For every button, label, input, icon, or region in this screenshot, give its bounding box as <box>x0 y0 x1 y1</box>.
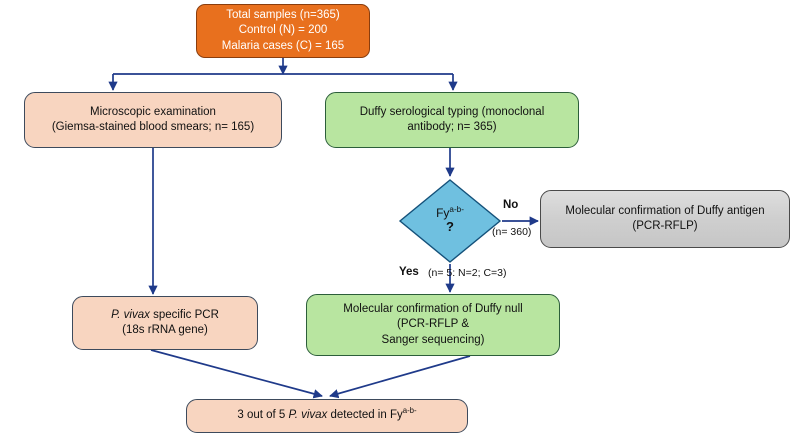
pvivax-line-1: P. vivax specific PCR <box>79 308 251 323</box>
node-duffy-serological-typing: Duffy serological typing (monoclonal ant… <box>325 92 579 148</box>
mol-null-line-3: Sanger sequencing) <box>313 333 553 348</box>
total-samples-line-1: Total samples (n=365) <box>203 8 363 23</box>
mol-antigen-line-1: Molecular confirmation of Duffy antigen <box>547 204 783 219</box>
microscopic-line-1: Microscopic examination <box>31 105 275 120</box>
result-prefix: 3 out of 5 <box>237 409 288 421</box>
edge-molnull-to-result <box>330 356 470 396</box>
mol-null-line-1: Molecular confirmation of Duffy null <box>313 302 553 317</box>
node-final-result: 3 out of 5 P. vivax detected in Fya-b- <box>186 399 468 433</box>
node-microscopic-examination: Microscopic examination (Giemsa-stained … <box>24 92 282 148</box>
edge-label-no-count: (n= 360) <box>492 226 531 238</box>
duffy-typing-line-1: Duffy serological typing (monoclonal <box>332 105 572 120</box>
decision-label-superscript: a-b- <box>449 205 464 214</box>
mol-null-line-2: (PCR-RFLP & <box>313 317 553 332</box>
microscopic-line-2: (Giemsa-stained blood smears; n= 165) <box>31 120 275 135</box>
decision-label-text: Fy <box>436 206 449 220</box>
pvivax-species-name: P. vivax <box>111 309 150 321</box>
decision-label: Fya-b- <box>436 207 464 221</box>
pvivax-line-1-rest: specific PCR <box>150 309 219 321</box>
edge-label-yes: Yes <box>399 266 419 278</box>
decision-question-mark: ? <box>436 220 464 235</box>
edge-label-no: No <box>503 199 518 211</box>
edge-pvivax-to-result <box>151 350 322 396</box>
node-molecular-confirmation-duffy-antigen: Molecular confirmation of Duffy antigen … <box>540 190 790 248</box>
node-pvivax-specific-pcr: P. vivax specific PCR (18s rRNA gene) <box>72 296 258 350</box>
duffy-typing-line-2: antibody; n= 365) <box>332 120 572 135</box>
node-decision-fy-a-b-negative: Fya-b- ? <box>398 178 502 264</box>
result-superscript: a-b- <box>403 407 417 416</box>
total-samples-line-3: Malaria cases (C) = 165 <box>203 39 363 54</box>
result-middle: detected in Fy <box>327 409 402 421</box>
mol-antigen-line-2: (PCR-RFLP) <box>547 219 783 234</box>
node-total-samples: Total samples (n=365) Control (N) = 200 … <box>196 4 370 58</box>
edge-label-yes-count: (n= 5: N=2; C=3) <box>428 267 507 279</box>
result-text: 3 out of 5 P. vivax detected in Fya-b- <box>187 408 467 423</box>
total-samples-line-2: Control (N) = 200 <box>203 23 363 38</box>
node-molecular-confirmation-duffy-null: Molecular confirmation of Duffy null (PC… <box>306 294 560 356</box>
result-species-name: P. vivax <box>289 409 328 421</box>
pvivax-line-2: (18s rRNA gene) <box>79 323 251 338</box>
